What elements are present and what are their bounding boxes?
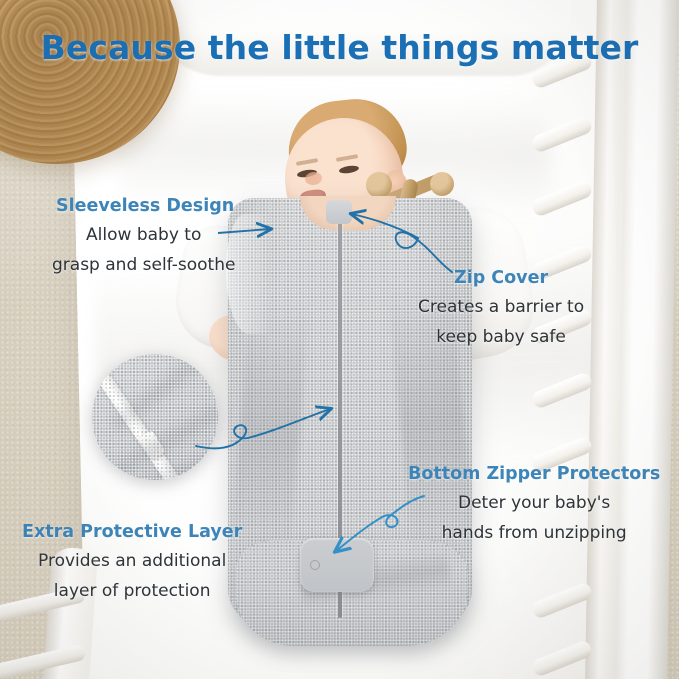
infographic-canvas: Because the little things matter Sleevel… [0, 0, 679, 679]
vignette-overlay [0, 0, 679, 679]
